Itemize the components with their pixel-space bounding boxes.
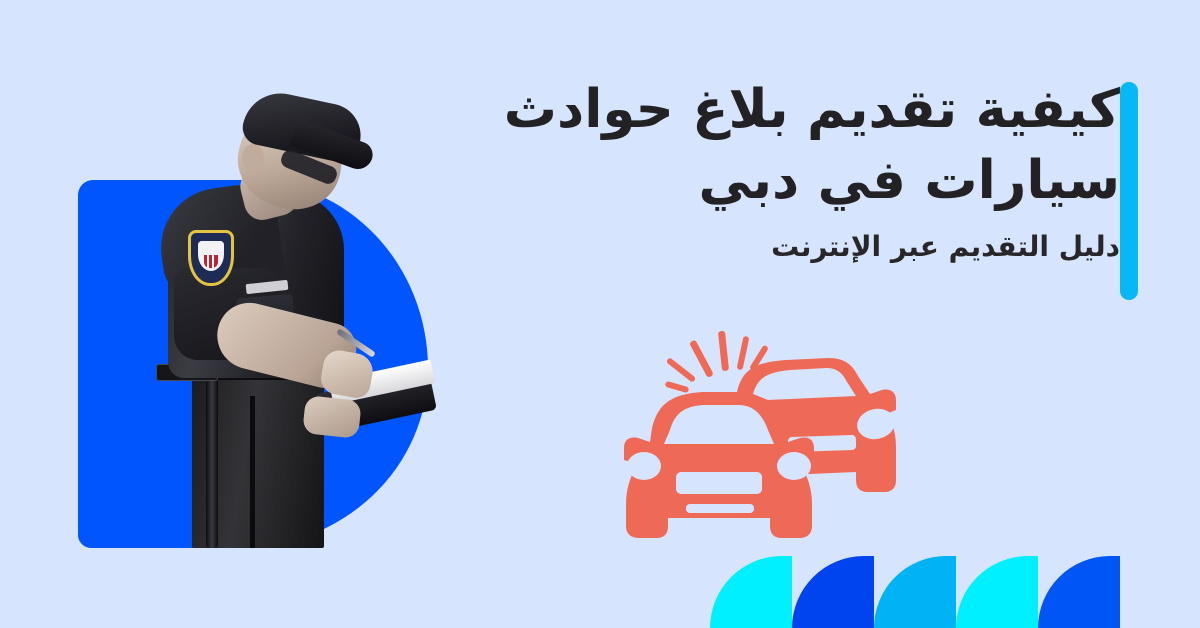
headline-block: كيفية تقديم بلاغ حوادث سيارات في دبي دلي… [360, 74, 1120, 264]
decorative-arc-strip [710, 556, 1120, 628]
officer-leg-seam [250, 396, 255, 548]
page-subtitle: دليل التقديم عبر الإنترنت [360, 230, 1120, 264]
page-title: كيفية تقديم بلاغ حوادث سيارات في دبي [360, 74, 1120, 216]
vertical-accent-bar [1120, 82, 1138, 300]
headline-line-1: كيفية تقديم بلاغ حوادث [504, 79, 1120, 140]
arc-shape-1 [1038, 556, 1120, 628]
arc-shape-5 [710, 556, 792, 628]
banner-canvas: كيفية تقديم بلاغ حوادث سيارات في دبي دلي… [0, 0, 1200, 628]
arc-shape-2 [956, 556, 1038, 628]
badge-shield-stripes-icon [204, 255, 218, 268]
officer-ear [242, 144, 264, 172]
headline-line-2: سيارات في دبي [698, 150, 1120, 211]
car-crash-illustration [590, 320, 910, 550]
arc-shape-3 [874, 556, 956, 628]
officer-shoulder-badge-icon [188, 230, 234, 286]
arc-shape-4 [792, 556, 874, 628]
officer-supporting-hand [302, 395, 362, 439]
